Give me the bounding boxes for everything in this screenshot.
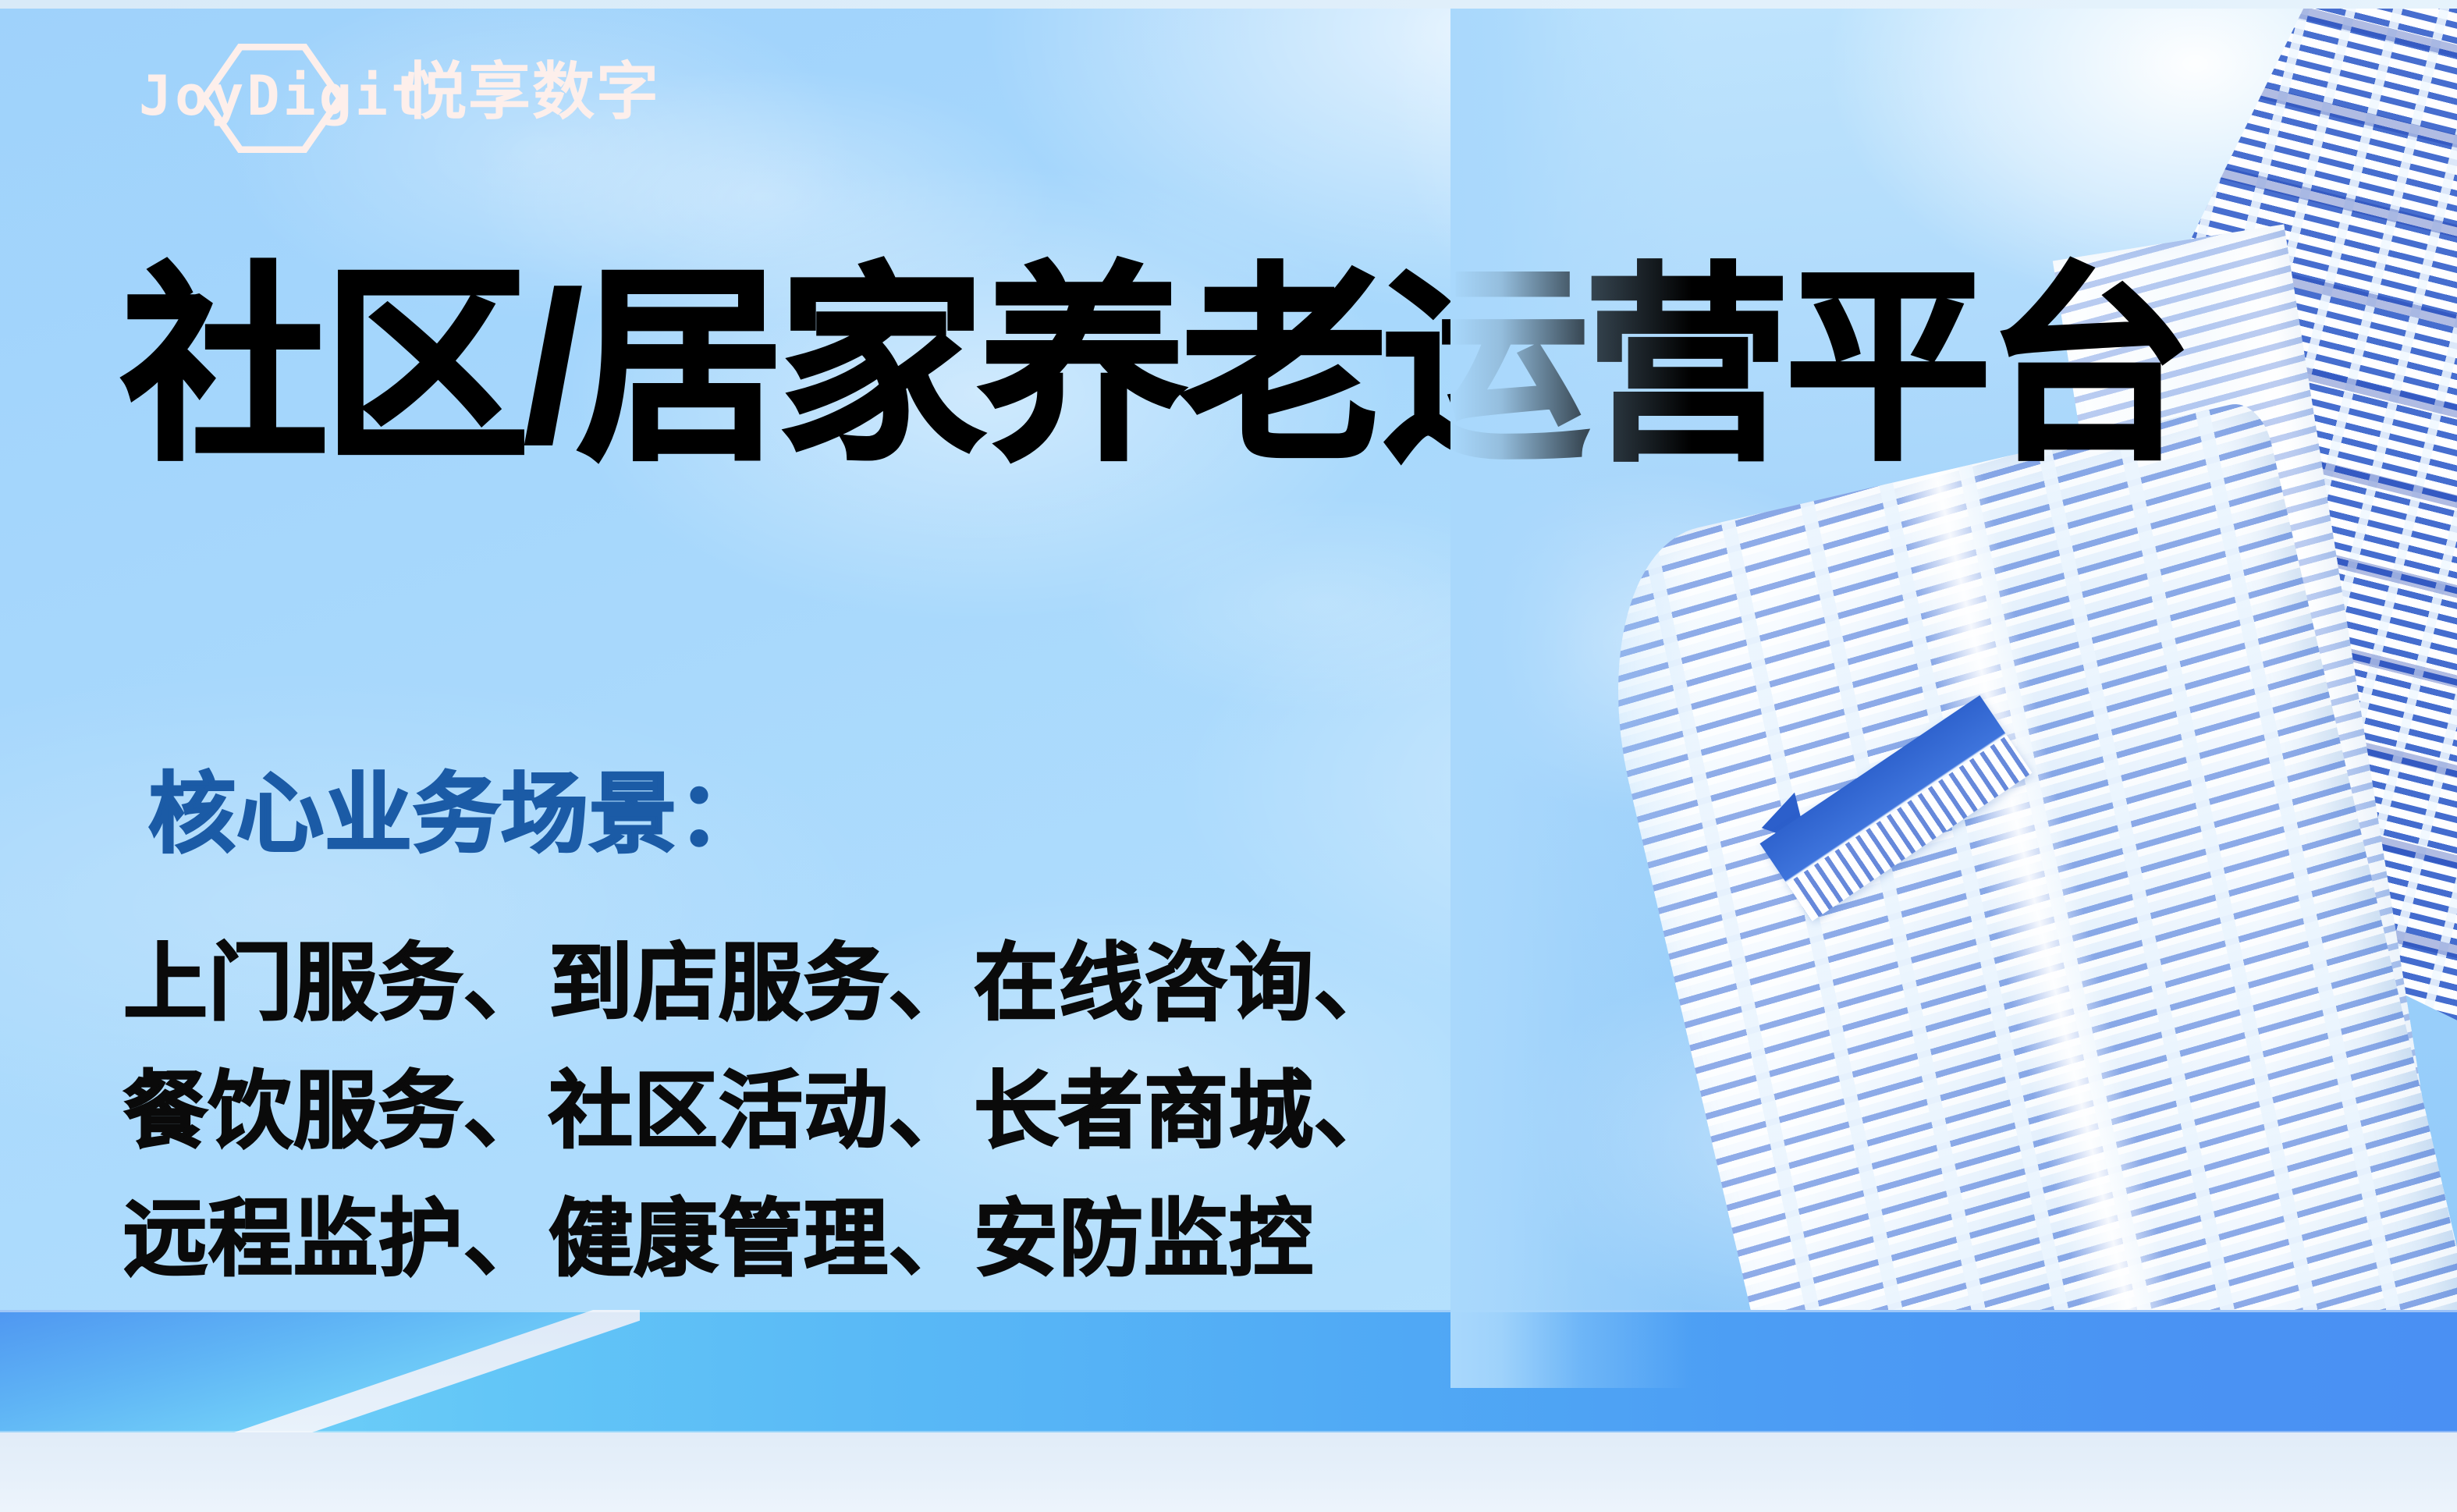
brand-logo: JoyDigit 悦享数字 xyxy=(139,48,685,147)
section-heading: 核心业务场景： xyxy=(148,771,765,858)
footer-accent-band xyxy=(0,1310,2457,1432)
footer-pale-strip xyxy=(0,1432,2457,1512)
logo-chinese-name: 悦享数字 xyxy=(404,61,660,123)
scenario-list: 上门服务、到店服务、在线咨询、 餐饮服务、社区活动、长者商城、 远程监护、健康管… xyxy=(123,919,1399,1303)
logo-wordmark: JoyDigit xyxy=(139,69,427,123)
skyscraper-photo xyxy=(1450,9,2457,1388)
slide-canvas: JoyDigit 悦享数字 社区/居家养老运营平台 核心业务场景： 上门服务、到… xyxy=(0,0,2457,1512)
page-title: 社区/居家养老运营平台 xyxy=(122,257,2188,477)
band-top-highlight xyxy=(0,1310,2457,1312)
scenario-line: 上门服务、到店服务、在线咨询、 xyxy=(123,919,1399,1047)
scenario-line: 餐饮服务、社区活动、长者商城、 xyxy=(123,1047,1399,1175)
top-edge-strip xyxy=(0,0,2457,9)
scenario-line: 远程监护、健康管理、安防监控 xyxy=(123,1175,1399,1303)
